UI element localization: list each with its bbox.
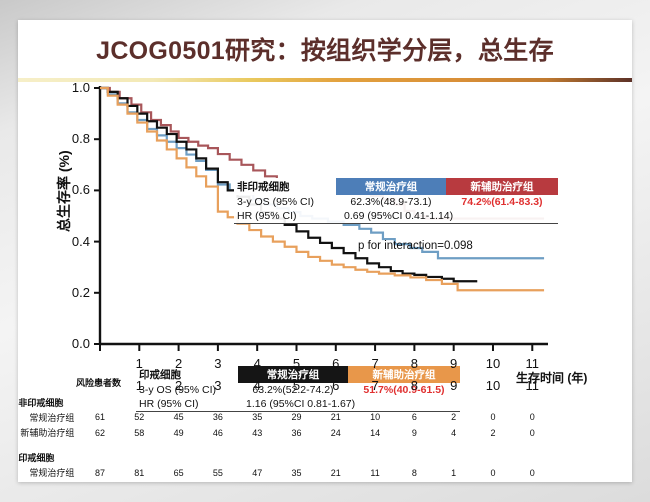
- risk-count-cell: 8: [395, 465, 434, 480]
- risk-year-label: 11: [513, 377, 552, 394]
- risk-count-cell: 24: [316, 425, 355, 440]
- legend-header-row: 非印戒细胞 常规治疗组 新辅助治疗组: [234, 178, 558, 195]
- x-tick-label: 3: [214, 356, 221, 371]
- risk-year-label: 2: [159, 377, 198, 394]
- risk-count-cell: 62: [80, 425, 119, 440]
- legend-hr-value: 0.69 (95%CI 0.41-1.14): [336, 209, 558, 224]
- risk-count-cell: 47: [238, 465, 277, 480]
- y-tick-label: 0.4: [56, 234, 90, 249]
- risk-count-cell: 1: [434, 465, 473, 480]
- x-tick-label: 7: [371, 356, 378, 371]
- x-tick-label: 5: [293, 356, 300, 371]
- risk-year-header-row: 1234567891011: [18, 377, 552, 394]
- risk-count-cell: 21: [316, 465, 355, 480]
- p-interaction-text: p for interaction=0.098: [358, 240, 473, 252]
- y-axis-tick-labels: 1.00.80.60.40.20.0: [56, 82, 90, 372]
- risk-arm-label: 常规治疗组: [18, 410, 80, 425]
- risk-count-cell: 89: [80, 481, 119, 482]
- risk-count-cell: 60: [159, 481, 198, 482]
- risk-year-label: 3: [198, 377, 237, 394]
- legend-hr-label: HR (95% CI): [234, 209, 336, 224]
- risk-year-label: 9: [434, 377, 473, 394]
- x-tick-label: 8: [411, 356, 418, 371]
- slide-canvas: JCOG0501研究：按组织学分层，总生存 总生存率 (%) 1.00.80.6…: [18, 20, 632, 482]
- risk-count-cell: 14: [355, 425, 394, 440]
- y-tick-label: 0.8: [56, 131, 90, 146]
- risk-count-cell: 65: [159, 465, 198, 480]
- x-tick-label: 6: [332, 356, 339, 371]
- risk-count-cell: 36: [198, 410, 237, 425]
- y-tick-label: 0.0: [56, 336, 90, 351]
- risk-count-cell: 87: [80, 465, 119, 480]
- risk-count-cell: 58: [120, 425, 159, 440]
- y-tick-label: 0.2: [56, 285, 90, 300]
- legend-row-hr: HR (95% CI) 0.69 (95%CI 0.41-1.14): [234, 209, 558, 224]
- risk-count-cell: 2: [473, 425, 512, 440]
- legend-arm-conventional: 常规治疗组: [336, 178, 446, 195]
- x-tick-label: 4: [254, 356, 261, 371]
- risk-count-cell: 2: [434, 410, 473, 425]
- risk-count-cell: 4: [434, 425, 473, 440]
- legend-group-label: 非印戒细胞: [234, 178, 336, 195]
- risk-count-cell: 0: [473, 465, 512, 480]
- legend-os-label: 3-y OS (95% CI): [234, 195, 336, 209]
- x-tick-label: 10: [486, 356, 500, 371]
- risk-group-label: 非印戒细胞: [18, 394, 552, 409]
- risk-count-cell: 37: [238, 481, 277, 482]
- risk-year-label: 7: [355, 377, 394, 394]
- risk-group-spacer: [18, 441, 552, 450]
- risk-count-cell: 55: [198, 465, 237, 480]
- risk-count-cell: 79: [120, 481, 159, 482]
- risk-count-cell: 24: [316, 481, 355, 482]
- risk-group-row: 印戒细胞: [18, 450, 552, 465]
- risk-count-cell: 46: [198, 425, 237, 440]
- risk-year-label: 6: [316, 377, 355, 394]
- risk-count-cell: 6: [395, 410, 434, 425]
- risk-count-cell: 45: [159, 410, 198, 425]
- risk-count-cell: 43: [238, 425, 277, 440]
- risk-count-cell: 29: [277, 410, 316, 425]
- survival-curves-svg: [92, 82, 552, 382]
- risk-count-cell: 35: [277, 465, 316, 480]
- risk-count-cell: 14: [355, 481, 394, 482]
- risk-table-row: 新辅助治疗组89796046372724149520: [18, 481, 552, 482]
- risk-count-cell: 81: [120, 465, 159, 480]
- y-tick-label: 0.6: [56, 182, 90, 197]
- risk-arm-label: 新辅助治疗组: [18, 481, 80, 482]
- risk-count-cell: 5: [434, 481, 473, 482]
- risk-arm-label: 新辅助治疗组: [18, 425, 80, 440]
- risk-year-label: 4: [238, 377, 277, 394]
- page-title: JCOG0501研究：按组织学分层，总生存: [96, 31, 554, 67]
- risk-count-cell: 35: [238, 410, 277, 425]
- risk-count-cell: 9: [395, 481, 434, 482]
- risk-group-row: 非印戒细胞: [18, 394, 552, 409]
- risk-group-label: 印戒细胞: [18, 450, 552, 465]
- risk-count-cell: 0: [513, 425, 552, 440]
- risk-count-cell: 0: [473, 410, 512, 425]
- title-area: JCOG0501研究：按组织学分层，总生存: [18, 20, 632, 78]
- risk-year-label: 10: [473, 377, 512, 394]
- legend-arm-neoadjuvant: 新辅助治疗组: [446, 178, 558, 195]
- risk-count-cell: 21: [316, 410, 355, 425]
- risk-count-cell: 10: [355, 410, 394, 425]
- x-tick-label: 2: [175, 356, 182, 371]
- risk-count-cell: 36: [277, 425, 316, 440]
- risk-count-cell: 0: [513, 410, 552, 425]
- risk-year-label: 1: [120, 377, 159, 394]
- risk-count-cell: 27: [277, 481, 316, 482]
- risk-count-cell: 61: [80, 410, 119, 425]
- risk-year-label: 8: [395, 377, 434, 394]
- x-tick-label: 1: [136, 356, 143, 371]
- non-signet-legend-table: 非印戒细胞 常规治疗组 新辅助治疗组 3-y OS (95% CI) 62.3%…: [234, 178, 558, 224]
- risk-table-row: 常规治疗组61524536352921106200: [18, 410, 552, 425]
- x-tick-label: 9: [450, 356, 457, 371]
- risk-count-cell: 2: [473, 481, 512, 482]
- risk-count-cell: 46: [198, 481, 237, 482]
- risk-count-cell: 11: [355, 465, 394, 480]
- risk-arm-label: 常规治疗组: [18, 465, 80, 480]
- risk-count-cell: 0: [513, 465, 552, 480]
- risk-table-row: 常规治疗组87816555473521118100: [18, 465, 552, 480]
- risk-table-row: 新辅助治疗组62584946433624149420: [18, 425, 552, 440]
- risk-count-cell: 0: [513, 481, 552, 482]
- risk-table: 1234567891011非印戒细胞常规治疗组61524536352921106…: [18, 377, 552, 482]
- survival-curve: [100, 88, 544, 258]
- risk-count-cell: 52: [120, 410, 159, 425]
- legend-row-os: 3-y OS (95% CI) 62.3%(48.9-73.1) 74.2%(6…: [234, 195, 558, 209]
- legend-os-neoadjuvant: 74.2%(61.4-83.3): [446, 195, 558, 209]
- risk-count-cell: 9: [395, 425, 434, 440]
- risk-year-label: 5: [277, 377, 316, 394]
- y-tick-label: 1.0: [56, 80, 90, 95]
- x-tick-label: 11: [526, 356, 540, 371]
- legend-os-conventional: 62.3%(48.9-73.1): [336, 195, 446, 209]
- risk-count-cell: 49: [159, 425, 198, 440]
